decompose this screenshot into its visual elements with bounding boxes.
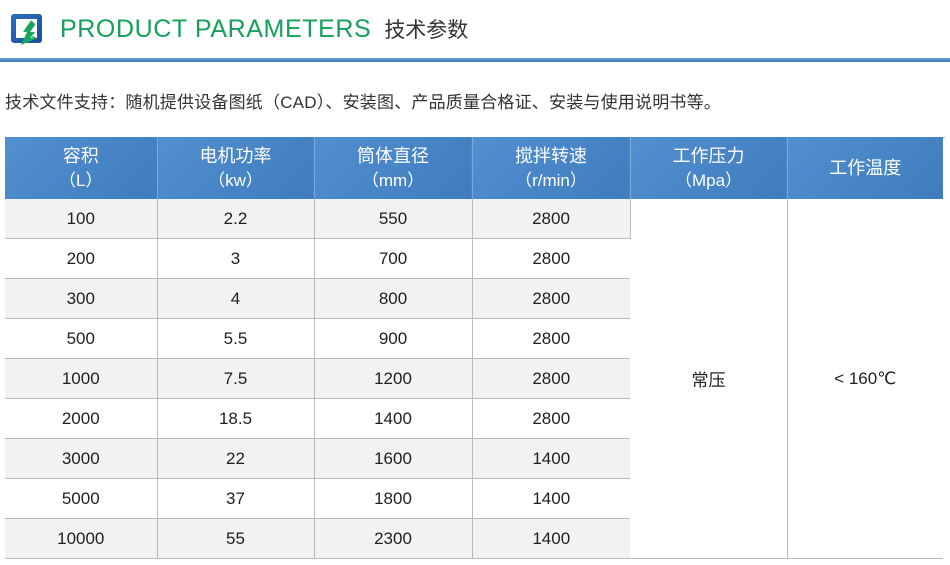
page-title-cn: 技术参数 <box>384 14 468 44</box>
column-header-power-unit: （kw） <box>158 169 314 194</box>
cell-diameter: 1400 <box>314 399 472 439</box>
column-header-temperature-name: 工作温度 <box>829 158 901 178</box>
column-header-temperature: 工作温度 <box>787 137 943 199</box>
cell-power: 37 <box>157 479 314 519</box>
cell-speed: 2800 <box>472 239 630 279</box>
cell-power: 7.5 <box>157 359 314 399</box>
intro-paragraph: 技术文件支持：随机提供设备图纸（CAD）、安装图、产品质量合格证、安装与使用说明… <box>5 88 950 113</box>
cell-power: 18.5 <box>157 399 314 439</box>
cell-power: 5.5 <box>157 319 314 359</box>
page-header: PRODUCT PARAMETERS 技术参数 <box>0 0 950 58</box>
table-body: 100 2.2 550 2800 常压 < 160℃ 200 3 700 280… <box>5 199 943 559</box>
table-row: 100 2.2 550 2800 常压 < 160℃ <box>5 199 943 239</box>
cell-diameter: 900 <box>314 319 472 359</box>
logo-square-zigzag-icon <box>8 11 46 49</box>
cell-diameter: 800 <box>314 279 472 319</box>
cell-speed: 1400 <box>472 519 630 559</box>
cell-power: 2.2 <box>157 199 314 239</box>
cell-diameter: 2300 <box>314 519 472 559</box>
cell-volume: 1000 <box>5 359 157 399</box>
cell-speed: 1400 <box>472 479 630 519</box>
column-header-pressure-name: 工作压力 <box>673 146 745 166</box>
cell-diameter: 1800 <box>314 479 472 519</box>
cell-speed: 2800 <box>472 319 630 359</box>
cell-speed: 2800 <box>472 199 630 239</box>
column-header-volume-unit: （L） <box>5 169 157 194</box>
cell-volume: 10000 <box>5 519 157 559</box>
cell-power: 22 <box>157 439 314 479</box>
cell-diameter: 700 <box>314 239 472 279</box>
column-header-volume-name: 容积 <box>63 146 99 166</box>
column-header-diameter-unit: （mm） <box>315 169 472 194</box>
column-header-speed: 搅拌转速 （r/min） <box>472 137 630 199</box>
table-header-row: 容积 （L） 电机功率 （kw） 筒体直径 （mm） 搅拌转速 （r/min） … <box>5 137 943 199</box>
cell-working-temperature-merged: < 160℃ <box>787 199 943 559</box>
cell-volume: 100 <box>5 199 157 239</box>
cell-power: 55 <box>157 519 314 559</box>
header-divider <box>0 58 950 62</box>
column-header-power: 电机功率 （kw） <box>157 137 314 199</box>
cell-volume: 5000 <box>5 479 157 519</box>
product-parameters-table: 容积 （L） 电机功率 （kw） 筒体直径 （mm） 搅拌转速 （r/min） … <box>5 137 943 559</box>
cell-speed: 2800 <box>472 359 630 399</box>
page-title: PRODUCT PARAMETERS 技术参数 <box>60 14 468 44</box>
spec-table-frame: 容积 （L） 电机功率 （kw） 筒体直径 （mm） 搅拌转速 （r/min） … <box>5 137 945 559</box>
cell-diameter: 1200 <box>314 359 472 399</box>
spec-table-container: 容积 （L） 电机功率 （kw） 筒体直径 （mm） 搅拌转速 （r/min） … <box>0 137 950 559</box>
cell-speed: 1400 <box>472 439 630 479</box>
cell-volume: 500 <box>5 319 157 359</box>
column-header-speed-name: 搅拌转速 <box>515 146 587 166</box>
column-header-power-name: 电机功率 <box>200 146 272 166</box>
cell-volume: 300 <box>5 279 157 319</box>
column-header-diameter-name: 筒体直径 <box>357 146 429 166</box>
cell-diameter: 1600 <box>314 439 472 479</box>
cell-volume: 3000 <box>5 439 157 479</box>
cell-diameter: 550 <box>314 199 472 239</box>
cell-power: 3 <box>157 239 314 279</box>
cell-working-pressure-merged: 常压 <box>630 199 787 559</box>
cell-speed: 2800 <box>472 399 630 439</box>
column-header-diameter: 筒体直径 （mm） <box>314 137 472 199</box>
column-header-volume: 容积 （L） <box>5 137 157 199</box>
page-title-en: PRODUCT PARAMETERS <box>60 15 371 44</box>
cell-volume: 200 <box>5 239 157 279</box>
column-header-speed-unit: （r/min） <box>473 169 630 194</box>
cell-power: 4 <box>157 279 314 319</box>
cell-speed: 2800 <box>472 279 630 319</box>
column-header-pressure-unit: （Mpa） <box>631 169 787 194</box>
cell-volume: 2000 <box>5 399 157 439</box>
column-header-pressure: 工作压力 （Mpa） <box>630 137 787 199</box>
